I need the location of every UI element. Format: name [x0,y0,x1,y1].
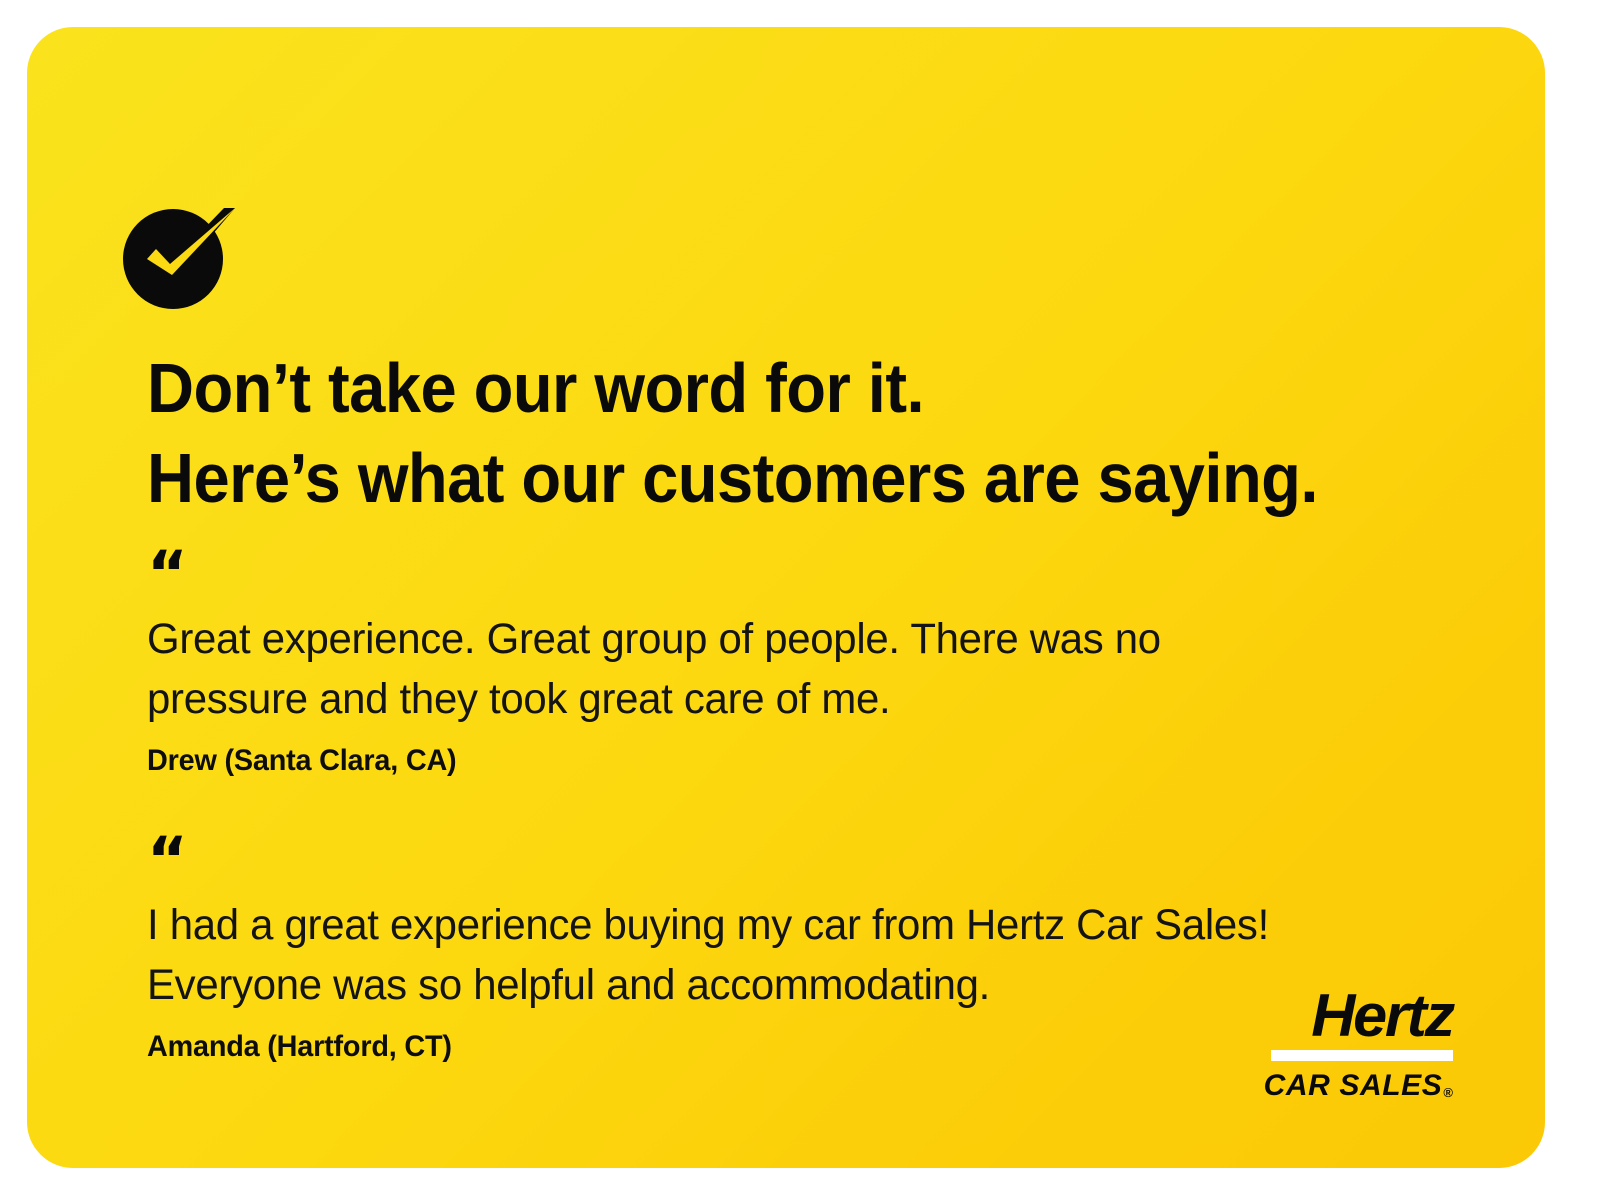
testimonial-item: “ Great experience. Great group of peopl… [147,557,1487,781]
quote-mark-icon: “ [147,557,1487,591]
testimonial-quote: Great experience. Great group of people.… [147,609,1454,729]
hertz-subtitle: CAR SALES [1264,1070,1443,1102]
registered-trademark-icon: ® [1443,1086,1453,1099]
hertz-car-sales-logo: Hertz CAR SALES ® [1253,986,1453,1102]
hertz-logo-rule [1271,1050,1453,1061]
check-circle-icon [123,203,253,321]
quote-line-1: Great experience. Great group of people.… [147,609,1454,669]
hertz-subtitle-row: CAR SALES ® [1253,1070,1453,1102]
hertz-wordmark: Hertz [1249,986,1453,1046]
testimonial-attribution: Amanda (Hartford, CT) [147,1027,1433,1067]
headline-line-2: Here’s what our customers are saying. [147,433,1393,523]
quote-mark-icon: “ [147,843,1487,877]
quote-line-2: pressure and they took great care of me. [147,669,1454,729]
testimonial-attribution: Drew (Santa Clara, CA) [147,741,1433,781]
testimonial-card: Don’t take our word for it. Here’s what … [27,27,1545,1168]
page-title: Don’t take our word for it. Here’s what … [147,343,1393,523]
quote-line-1: I had a great experience buying my car f… [147,895,1454,955]
headline-line-1: Don’t take our word for it. [147,343,1393,433]
